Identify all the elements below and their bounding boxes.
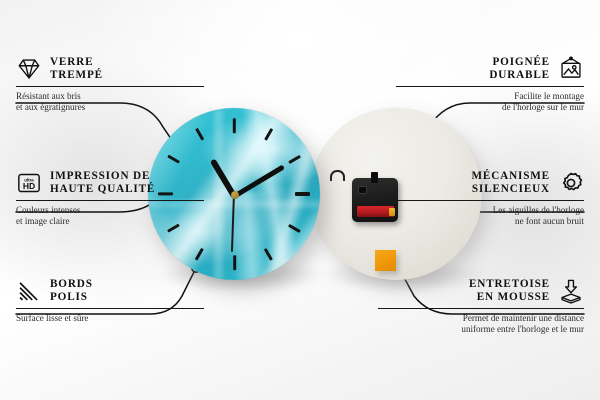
diamond-icon: [16, 56, 42, 82]
feature-bords-polis: BORDS POLIS Surface lisse et sûre: [16, 278, 204, 324]
glass-reflection: [214, 108, 223, 280]
feature-divider: [396, 200, 584, 201]
feature-divider: [396, 86, 584, 87]
feature-verre-trempe: VERRE TREMPÉ Résistant aux bris et aux é…: [16, 56, 204, 113]
clock-tick: [232, 118, 235, 133]
mechanism-notch: [358, 186, 367, 194]
feature-desc-line2: ne font aucun bruit: [396, 216, 584, 227]
feature-desc-line1: Résistant aux bris: [16, 91, 204, 102]
feature-desc-line1: Couleurs intenses: [16, 205, 204, 216]
feature-title-line1: IMPRESSION DE: [50, 170, 155, 183]
feature-divider: [16, 200, 204, 201]
feature-divider: [16, 86, 204, 87]
hanging-frame-icon: [558, 56, 584, 82]
feature-divider: [378, 308, 584, 309]
clock-battery: [357, 206, 394, 217]
feature-title-line1: BORDS: [50, 278, 93, 291]
feature-desc-line2: de l'horloge sur le mur: [396, 102, 584, 113]
feature-mecanisme-silencieux: MÉCANISME SILENCIEUX Les aiguilles de l'…: [396, 170, 584, 227]
clock-tick: [295, 192, 310, 195]
press-down-pad-icon: [558, 278, 584, 304]
feature-poignee-durable: POIGNÉE DURABLE Facilite le montage de l…: [396, 56, 584, 113]
ultra-hd-icon: ultra HD: [16, 170, 42, 196]
feature-title-line2: DURABLE: [489, 69, 550, 82]
diagonal-lines-icon: [16, 278, 42, 304]
feature-title-line1: MÉCANISME: [471, 170, 550, 183]
feature-divider: [16, 308, 204, 309]
feature-title-line2: HAUTE QUALITÉ: [50, 183, 155, 196]
clock-tick: [232, 255, 235, 270]
feature-title-line2: POLIS: [50, 291, 93, 304]
feature-desc-line2: uniforme entre l'horloge et le mur: [378, 324, 584, 335]
infographic-canvas: VERRE TREMPÉ Résistant aux bris et aux é…: [0, 0, 600, 400]
feature-desc-line1: Surface lisse et sûre: [16, 313, 204, 324]
clock-center-cap: [231, 191, 239, 199]
feature-desc-line1: Les aiguilles de l'horloge: [396, 205, 584, 216]
feature-title-line2: EN MOUSSE: [469, 291, 550, 304]
feature-desc-line1: Facilite le montage: [396, 91, 584, 102]
feature-entretoise-en-mousse: ENTRETOISE EN MOUSSE Permet de maintenir…: [378, 278, 584, 335]
feature-title-line1: ENTRETOISE: [469, 278, 550, 291]
ultra-hd-icon-main-label: HD: [23, 181, 35, 191]
feature-title-line2: SILENCIEUX: [471, 183, 550, 196]
foam-spacer: [375, 250, 396, 271]
feature-title-line2: TREMPÉ: [50, 69, 103, 82]
feature-desc-line2: et image claire: [16, 216, 204, 227]
feature-desc-line2: et aux égratignures: [16, 102, 204, 113]
mechanism-hook-icon: [330, 170, 345, 181]
mechanism-shaft: [371, 172, 378, 183]
feature-impression-haute-qualite: ultra HD IMPRESSION DE HAUTE QUALITÉ Cou…: [16, 170, 204, 227]
feature-desc-line1: Permet de maintenir une distance: [378, 313, 584, 324]
gear-icon: [558, 170, 584, 196]
feature-title-line1: POIGNÉE: [489, 56, 550, 69]
battery-terminal: [389, 208, 395, 216]
feature-title-line1: VERRE: [50, 56, 103, 69]
clock-mechanism-box: [352, 178, 398, 222]
